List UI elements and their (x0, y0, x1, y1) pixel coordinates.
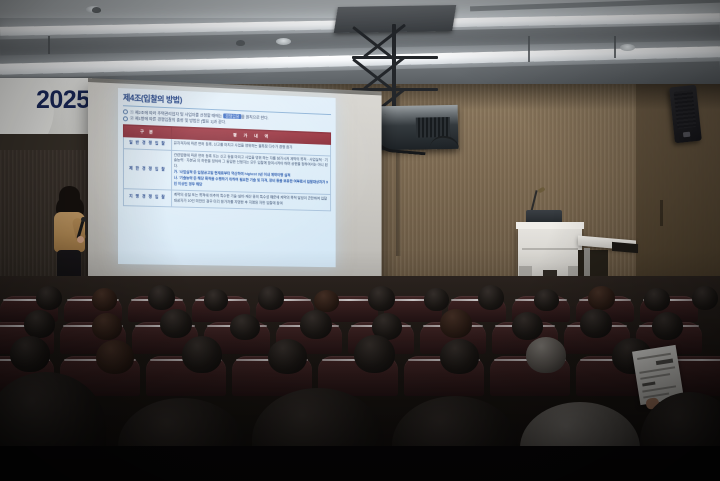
audience-head (96, 340, 134, 374)
audience-head (300, 310, 332, 339)
audience-head (440, 339, 479, 374)
ceiling-hanger (528, 36, 530, 62)
audience-head (588, 286, 615, 310)
audience-head (692, 286, 718, 310)
bullet-1-suffix: 을 원칙으로 한다. (241, 114, 269, 120)
audience-head (182, 336, 222, 373)
ceiling-hanger (48, 36, 50, 54)
audience-head (354, 335, 395, 373)
audience-head (440, 309, 472, 338)
audience-head (314, 290, 339, 312)
audience-head (24, 310, 55, 338)
podium-trim (522, 248, 578, 250)
presentation-slide: 제4조(입찰의 방법) ① 제2조에 따라 주택관리업자 및 사업자를 선정할 … (118, 88, 336, 267)
row-3-line-1: 계약의 성질 또는 목적에 비추어 특수한 기술·설비·재산 등의 특수성 때문… (174, 193, 329, 208)
audience-head (478, 285, 504, 310)
bullet-dot-icon (123, 110, 128, 115)
audience-head (424, 288, 449, 311)
venue-banner: 2025 (0, 78, 92, 134)
banner-base (0, 134, 92, 150)
downlight-icon (276, 38, 291, 45)
audience-head (580, 309, 612, 338)
audience-head (230, 314, 260, 340)
audience-head (526, 337, 566, 373)
row-2-key: 제 한 경 쟁 입 찰 (123, 148, 171, 190)
audience-head (36, 286, 62, 310)
audience-head (512, 312, 543, 340)
audience-head (160, 309, 192, 338)
bullet-1-highlight: 경쟁입찰 (223, 113, 241, 119)
banner-year-text: 2025 (36, 86, 90, 115)
ceiling-hanger (614, 36, 616, 58)
presenter-hand (77, 236, 84, 243)
microphone-head-icon (81, 217, 86, 222)
presenter-hair-top (59, 186, 80, 212)
audience-head (268, 339, 307, 374)
row-3-detail: 계약의 성질 또는 목적에 비추어 특수한 기술·설비·재산 등의 특수성 때문… (171, 190, 330, 211)
speaker-icon (669, 85, 702, 144)
audience-head (204, 289, 228, 311)
table-row: 제 한 경 쟁 입 찰 관련법령에 따른 면허 등록 또는 신고 등을 마치고 … (123, 148, 330, 194)
wall-mark (660, 200, 663, 226)
row-2-detail: 관련법령에 따른 면허 등록 또는 신고 등을 마치고 사업을 영위 하는 자를… (171, 150, 330, 194)
slide-table: 구 분 평 가 내 역 일 반 경 쟁 입 찰 유자격자에 따른 면허 등록, … (123, 125, 331, 212)
audience-shoulders-foreground (0, 446, 720, 481)
audience-head (652, 312, 683, 340)
audience-head (534, 289, 559, 311)
sprinkler-icon (92, 7, 101, 13)
speaker-led (683, 132, 690, 138)
podium-top (516, 222, 584, 229)
audience-head (92, 288, 117, 311)
audience-head (10, 336, 50, 372)
audience-head (368, 286, 395, 311)
downlight-icon (620, 44, 635, 51)
audience-head (92, 313, 122, 340)
speaker-grill (674, 90, 697, 129)
audience-head (644, 288, 670, 311)
lecture-hall-photo: 2025 제4조(입찰의 방법) ① 제2조에 따라 주택관리업자 및 사업자를… (0, 0, 720, 481)
bullet-dot-icon (123, 116, 128, 121)
sprinkler-icon (236, 40, 245, 46)
audience-head (148, 285, 175, 310)
row-3-key: 지 명 경 쟁 입 찰 (123, 189, 171, 207)
audience-head (258, 286, 284, 310)
